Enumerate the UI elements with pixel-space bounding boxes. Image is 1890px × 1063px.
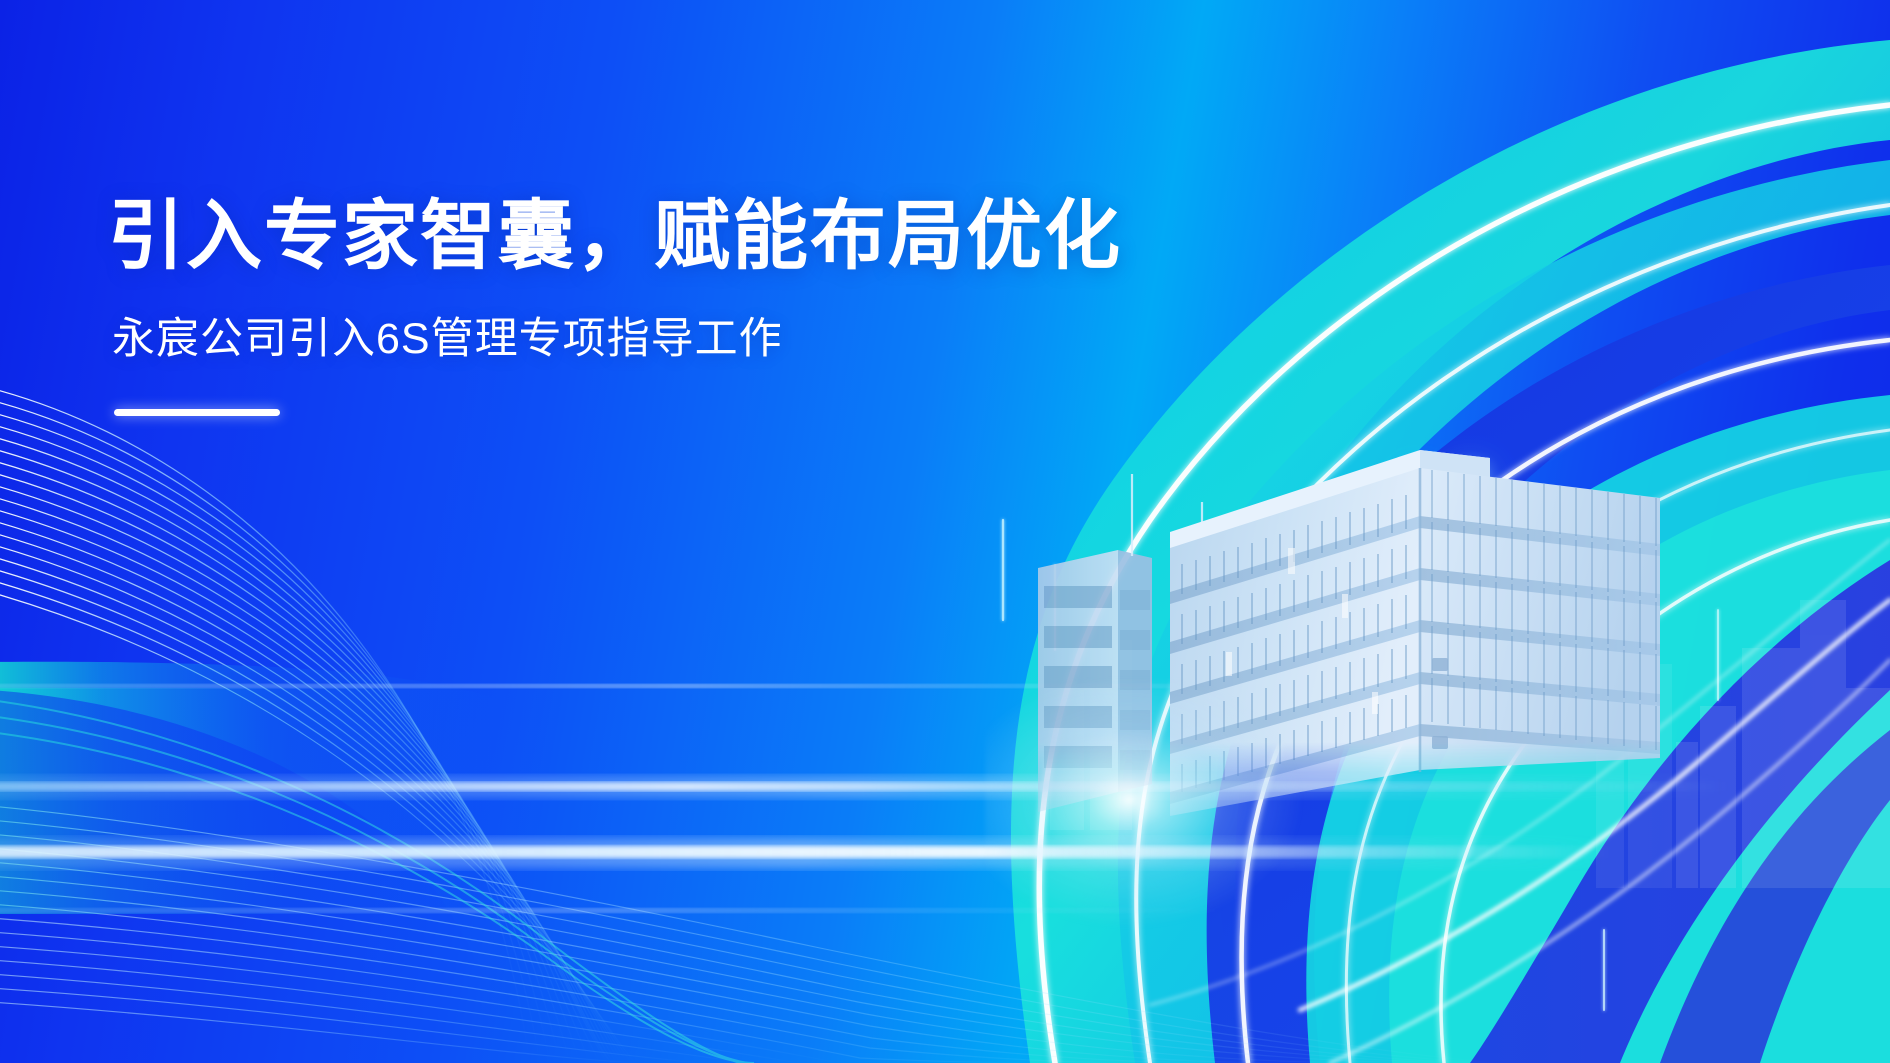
page-title: 引入专家智囊，赋能布局优化 <box>108 196 1122 278</box>
page-subtitle: 永宸公司引入6S管理专项指导工作 <box>112 316 1122 363</box>
headline-block: 引入专家智囊，赋能布局优化 永宸公司引入6S管理专项指导工作 <box>108 196 1122 416</box>
light-burst-flare <box>985 680 1305 930</box>
title-underline <box>114 409 280 416</box>
banner-root: 永宸 引入专家智囊，赋能布局优化 永宸公司引入6S管理专项指导工作 <box>0 0 1890 1063</box>
